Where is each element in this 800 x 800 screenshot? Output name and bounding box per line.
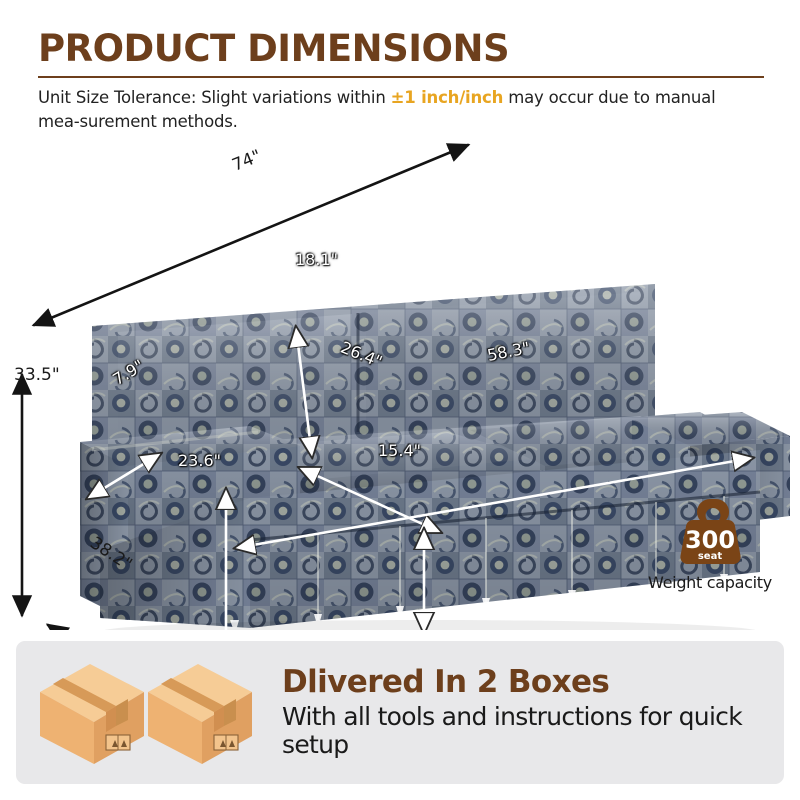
delivery-text: Dlivered In 2 Boxes With all tools and i… (282, 665, 784, 760)
delivery-banner: Dlivered In 2 Boxes With all tools and i… (16, 641, 784, 784)
box-1 (40, 664, 144, 764)
weight-capacity-caption: Weight capacity (630, 573, 790, 592)
arrow-overall-width (34, 145, 468, 325)
title-divider (38, 76, 764, 78)
weight-capacity-badge: 300 seat Weight capacity (630, 495, 790, 592)
delivery-title: Dlivered In 2 Boxes (282, 665, 784, 700)
weight-icon-wrap: 300 seat (630, 495, 790, 567)
delivery-subtitle: With all tools and instructions for quic… (282, 703, 784, 761)
boxes-icon-wrap (32, 652, 260, 777)
weight-value: 300 (685, 526, 735, 554)
boxes-icon (32, 652, 260, 772)
weight-icon: 300 seat (673, 495, 747, 567)
tolerance-highlight: ±1 inch/inch (391, 88, 504, 107)
weight-unit: seat (698, 551, 722, 562)
tolerance-note-before: Unit Size Tolerance: Slight variations w… (38, 88, 391, 107)
box-2 (148, 664, 252, 764)
page-title: PRODUCT DIMENSIONS (38, 27, 509, 70)
